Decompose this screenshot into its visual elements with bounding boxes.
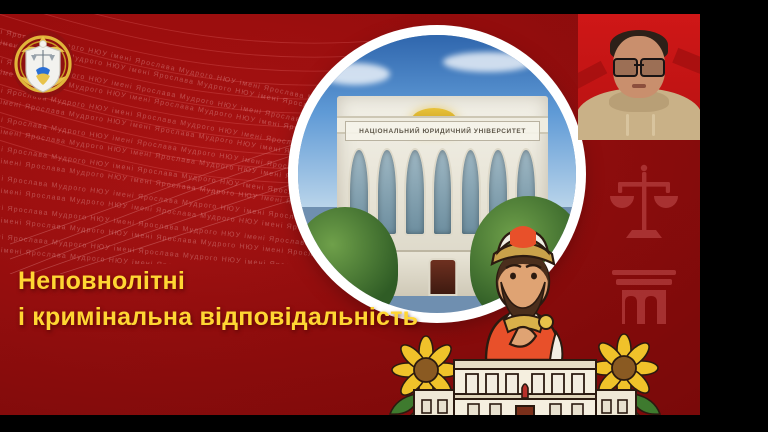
illustrated-building-with-sunflowers — [386, 330, 664, 415]
slide-title: Неповнолітні і кримінальна відповідальні… — [18, 264, 418, 335]
letterbox-right — [700, 0, 768, 432]
building-sign-text: НАЦІОНАЛЬНИЙ ЮРИДИЧНИЙ УНІВЕРСИТЕТ — [359, 128, 526, 135]
glasses-icon — [613, 58, 665, 73]
slide-title-line1: Неповнолітні — [18, 264, 418, 300]
scales-of-justice-icon — [610, 165, 678, 238]
building-sign: НАЦІОНАЛЬНИЙ ЮРИДИЧНИЙ УНІВЕРСИТЕТ — [345, 121, 539, 141]
classical-column-icon — [612, 270, 676, 324]
letterbox-bottom — [0, 415, 768, 432]
participant-video-main[interactable] — [578, 14, 700, 140]
speaker-mouth — [632, 84, 646, 88]
university-emblem — [8, 22, 78, 104]
video-call-screen: НЮУ імені Ярослава Мудрого НЮУ імені Яро… — [0, 0, 768, 432]
decor-icons-group — [598, 162, 690, 330]
slide-title-line2: і кримінальна відповідальність — [18, 300, 418, 336]
letterbox-top — [0, 0, 768, 14]
